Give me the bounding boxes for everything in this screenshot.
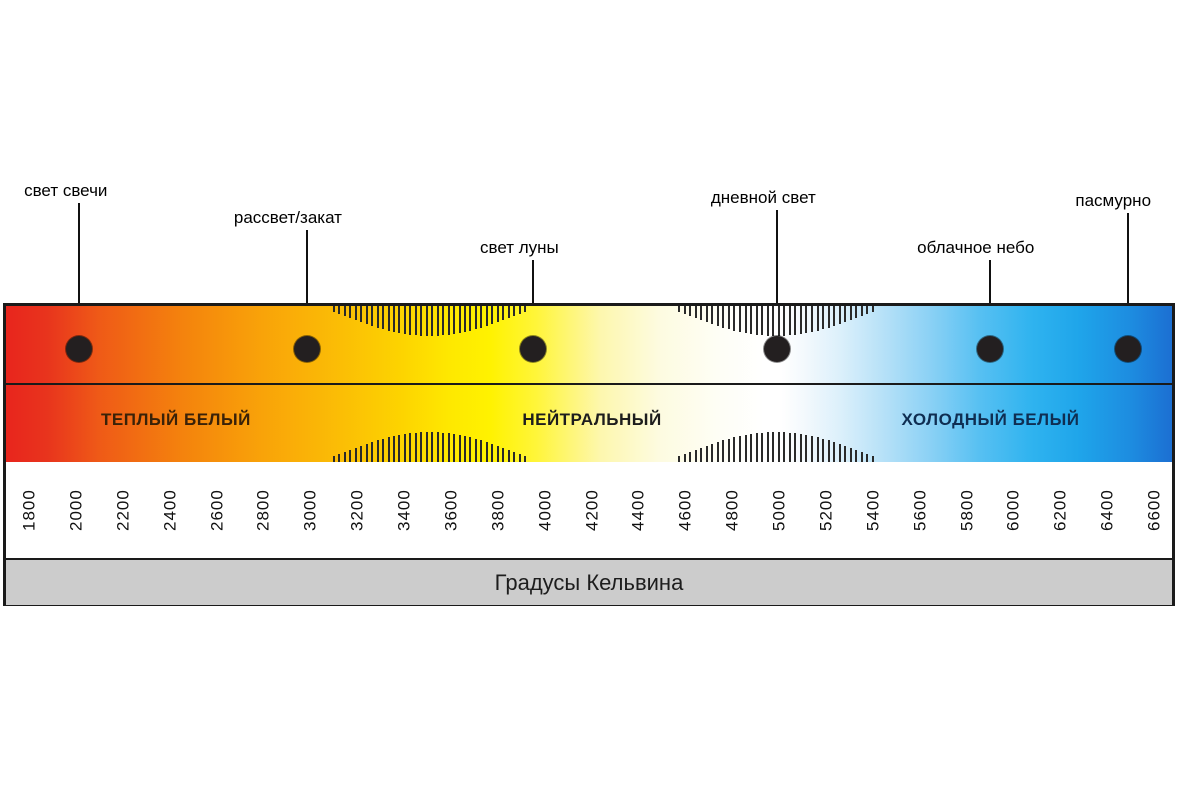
tick-mark <box>855 306 857 318</box>
tick-mark <box>453 306 455 334</box>
tick-mark <box>475 439 477 462</box>
tick-mark <box>366 444 368 462</box>
band-title-0: ТЕПЛЫЙ БЕЛЫЙ <box>26 410 326 430</box>
marker-dot-5 <box>1115 336 1141 362</box>
tick-mark <box>508 450 510 462</box>
tick-mark <box>513 306 515 316</box>
caption-bar: Градусы Кельвина <box>6 558 1172 605</box>
scale-tick-label-2000: 2000 <box>53 462 100 558</box>
scale-tick-label-2400: 2400 <box>147 462 194 558</box>
tick-mark <box>767 306 769 336</box>
tick-mark <box>711 306 713 324</box>
tick-mark <box>382 306 384 329</box>
tick-mark <box>839 306 841 324</box>
tick-mark <box>508 306 510 318</box>
tick-mark <box>469 437 471 462</box>
tick-mark <box>689 452 691 462</box>
tick-mark <box>366 306 368 324</box>
tick-mark <box>453 434 455 462</box>
tick-mark <box>360 306 362 322</box>
tick-mark <box>426 432 428 462</box>
tick-mark <box>393 436 395 462</box>
scale-tick-label-2200: 2200 <box>100 462 147 558</box>
scale-tick-label-3400: 3400 <box>381 462 428 558</box>
marker-dot-1 <box>294 336 320 362</box>
tick-mark <box>745 435 747 462</box>
tick-mark <box>722 306 724 328</box>
tick-mark <box>872 306 874 312</box>
tick-mark <box>388 437 390 462</box>
tick-mark <box>448 433 450 462</box>
tick-mark <box>409 433 411 462</box>
scale-tick-label-3600: 3600 <box>428 462 475 558</box>
tick-mark <box>404 306 406 334</box>
scale-tick-label-5600: 5600 <box>897 462 944 558</box>
tick-mark <box>789 433 791 462</box>
scale-tick-label-3200: 3200 <box>334 462 381 558</box>
scale-tick-label-4200: 4200 <box>569 462 616 558</box>
tick-mark <box>794 433 796 462</box>
tick-mark <box>861 452 863 462</box>
marker-dot-3 <box>764 336 790 362</box>
tick-mark <box>448 306 450 335</box>
callout-label-4: облачное небо <box>917 239 1034 256</box>
tick-mark <box>750 434 752 462</box>
tick-mark <box>502 306 504 320</box>
scale-tick-label-4000: 4000 <box>522 462 569 558</box>
callout-label-3: дневной свет <box>711 189 816 206</box>
tick-mark <box>398 306 400 333</box>
scale-tick-label-5000: 5000 <box>756 462 803 558</box>
tick-mark <box>502 448 504 462</box>
tick-mark <box>415 306 417 335</box>
caption-label: Градусы Кельвина <box>495 570 684 596</box>
tick-mark <box>850 448 852 462</box>
tick-mark <box>700 448 702 462</box>
tick-mark <box>491 306 493 324</box>
tick-mark <box>415 433 417 462</box>
tick-mark <box>426 306 428 336</box>
tick-mark <box>745 306 747 333</box>
tick-mark <box>756 433 758 462</box>
scale-tick-label-2600: 2600 <box>194 462 241 558</box>
tick-mark <box>817 437 819 462</box>
tick-mark <box>817 306 819 331</box>
tick-mark <box>866 306 868 314</box>
tick-mark <box>695 306 697 318</box>
tick-mark <box>349 450 351 462</box>
tick-mark <box>497 306 499 322</box>
marker-dot-4 <box>977 336 1003 362</box>
tick-mark <box>469 306 471 331</box>
tick-cluster-top <box>333 306 524 346</box>
tick-mark <box>728 439 730 462</box>
callout-label-1: рассвет/закат <box>234 209 342 226</box>
tick-mark <box>800 306 802 334</box>
tick-mark <box>486 442 488 462</box>
tick-mark <box>519 306 521 314</box>
scale-tick-label-5800: 5800 <box>944 462 991 558</box>
tick-mark <box>844 446 846 462</box>
scale-tick-label-4800: 4800 <box>709 462 756 558</box>
tick-mark <box>524 306 526 312</box>
scale-tick-label-2800: 2800 <box>240 462 287 558</box>
tick-mark <box>778 306 780 336</box>
tick-mark <box>828 440 830 462</box>
tick-mark <box>360 446 362 462</box>
tick-mark <box>431 306 433 336</box>
tick-mark <box>398 435 400 462</box>
callout-label-0: свет свечи <box>24 182 107 199</box>
tick-mark <box>480 440 482 462</box>
tick-mark <box>382 439 384 462</box>
callout-label-5: пасмурно <box>1075 192 1151 209</box>
callout-label-2: свет луны <box>480 239 559 256</box>
tick-mark <box>861 306 863 316</box>
tick-mark <box>486 306 488 326</box>
kelvin-gradient-band: ТЕПЛЫЙ БЕЛЫЙНЕЙТРАЛЬНЫЙХОЛОДНЫЙ БЕЛЫЙ <box>6 306 1172 462</box>
tick-mark <box>772 432 774 462</box>
tick-mark <box>393 306 395 332</box>
tick-mark <box>388 306 390 331</box>
tick-mark <box>684 306 686 314</box>
tick-mark <box>409 306 411 335</box>
tick-mark <box>459 306 461 333</box>
tick-mark <box>739 306 741 332</box>
tick-mark <box>783 306 785 336</box>
tick-mark <box>497 446 499 462</box>
tick-mark <box>689 306 691 316</box>
scale-tick-label-4400: 4400 <box>615 462 662 558</box>
tick-mark <box>822 306 824 329</box>
tick-mark <box>733 437 735 462</box>
tick-mark <box>711 444 713 462</box>
tick-mark <box>355 306 357 320</box>
tick-mark <box>480 306 482 328</box>
scale-tick-label-1800: 1800 <box>6 462 53 558</box>
marker-dot-2 <box>520 336 546 362</box>
tick-mark <box>761 433 763 462</box>
tick-mark <box>404 434 406 462</box>
tick-mark <box>355 448 357 462</box>
tick-mark <box>850 306 852 320</box>
tick-mark <box>833 442 835 462</box>
tick-mark <box>513 452 515 462</box>
tick-mark <box>437 306 439 336</box>
tick-mark <box>794 306 796 335</box>
tick-mark <box>783 432 785 462</box>
tick-mark <box>789 306 791 335</box>
scale-tick-label-5400: 5400 <box>850 462 897 558</box>
tick-mark <box>464 306 466 332</box>
scale-tick-label-3800: 3800 <box>475 462 522 558</box>
tick-mark <box>855 450 857 462</box>
tick-mark <box>377 440 379 462</box>
tick-mark <box>839 444 841 462</box>
band-divider <box>6 383 1172 385</box>
tick-mark <box>767 432 769 462</box>
tick-mark <box>811 306 813 332</box>
tick-mark <box>377 306 379 328</box>
tick-mark <box>728 306 730 329</box>
tick-mark <box>805 306 807 333</box>
tick-mark <box>437 432 439 462</box>
tick-mark <box>431 432 433 462</box>
tick-mark <box>475 306 477 329</box>
tick-mark <box>695 450 697 462</box>
tick-mark <box>333 306 335 312</box>
band-title-1: НЕЙТРАЛЬНЫЙ <box>442 410 742 430</box>
tick-mark <box>349 306 351 318</box>
tick-mark <box>811 436 813 462</box>
scale-tick-label-6200: 6200 <box>1037 462 1084 558</box>
tick-mark <box>442 306 444 335</box>
tick-mark <box>822 439 824 462</box>
scale-tick-label-3000: 3000 <box>287 462 334 558</box>
scale-tick-label-6000: 6000 <box>990 462 1037 558</box>
scale-tick-label-6600: 6600 <box>1131 462 1178 558</box>
kelvin-scale-row: 1800200022002400260028003000320034003600… <box>6 462 1172 558</box>
tick-mark <box>866 454 868 462</box>
band-title-2: ХОЛОДНЫЙ БЕЛЫЙ <box>840 410 1140 430</box>
tick-mark <box>772 306 774 336</box>
tick-mark <box>805 435 807 462</box>
tick-mark <box>459 435 461 462</box>
tick-mark <box>761 306 763 335</box>
color-temperature-chart: свет свечирассвет/закатсвет луныдневной … <box>0 0 1200 800</box>
tick-mark <box>464 436 466 462</box>
tick-mark <box>519 454 521 462</box>
tick-mark <box>722 440 724 462</box>
tick-mark <box>491 444 493 462</box>
scale-tick-label-6400: 6400 <box>1084 462 1131 558</box>
tick-mark <box>717 306 719 326</box>
tick-mark <box>344 452 346 462</box>
tick-mark <box>371 306 373 326</box>
tick-mark <box>828 306 830 328</box>
tick-mark <box>371 442 373 462</box>
marker-dot-0 <box>66 336 92 362</box>
tick-mark <box>756 306 758 335</box>
tick-mark <box>338 306 340 314</box>
tick-mark <box>706 306 708 322</box>
tick-mark <box>733 306 735 331</box>
tick-mark <box>717 442 719 462</box>
tick-mark <box>344 306 346 316</box>
tick-mark <box>750 306 752 334</box>
tick-mark <box>700 306 702 320</box>
tick-mark <box>844 306 846 322</box>
tick-mark <box>739 436 741 462</box>
tick-mark <box>420 306 422 336</box>
tick-mark <box>833 306 835 326</box>
tick-mark <box>420 432 422 462</box>
tick-mark <box>338 454 340 462</box>
tick-mark <box>800 434 802 462</box>
scale-tick-label-5200: 5200 <box>803 462 850 558</box>
tick-mark <box>684 454 686 462</box>
scale-tick-label-4600: 4600 <box>662 462 709 558</box>
tick-mark <box>678 306 680 312</box>
tick-mark <box>442 433 444 462</box>
tick-mark <box>778 432 780 462</box>
tick-mark <box>706 446 708 462</box>
